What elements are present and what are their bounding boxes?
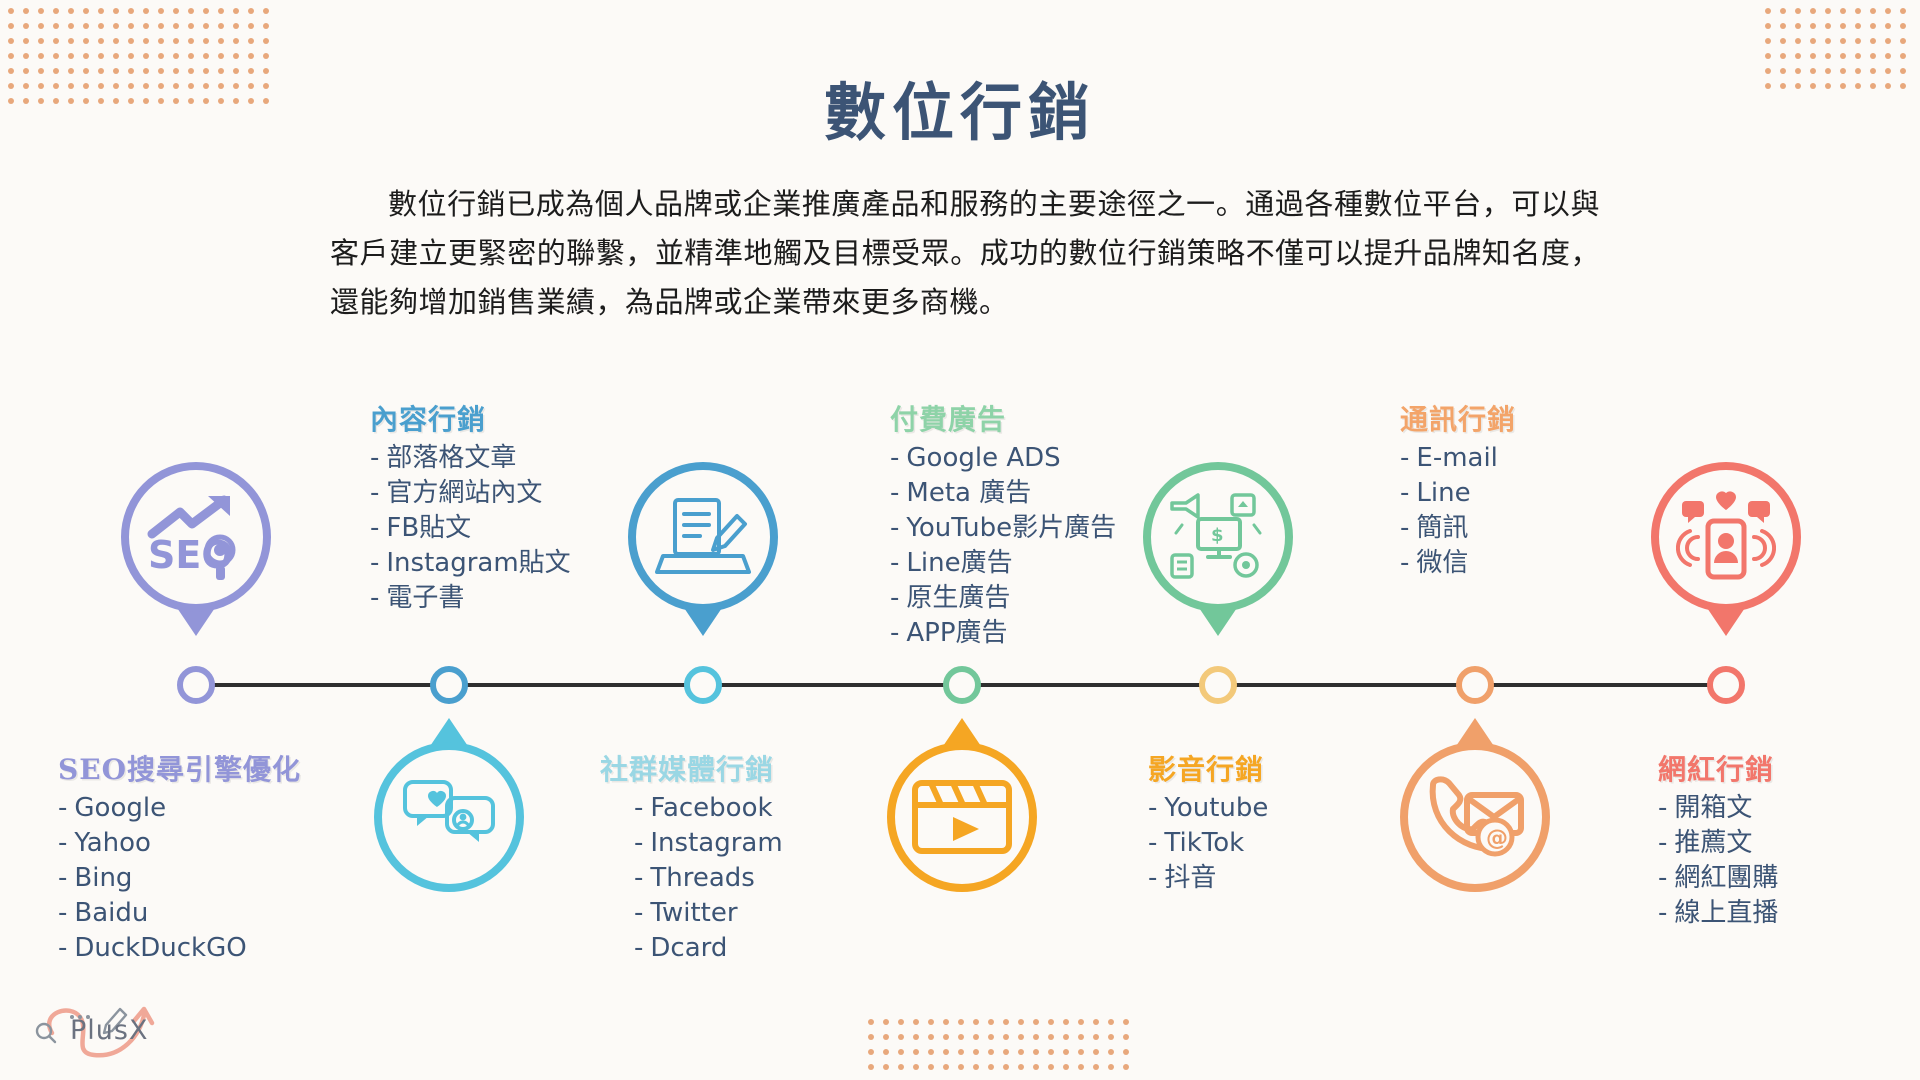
dot bbox=[263, 53, 269, 59]
dot bbox=[68, 38, 74, 44]
dot bbox=[1885, 38, 1891, 44]
dot bbox=[248, 38, 254, 44]
dot bbox=[173, 8, 179, 14]
dot bbox=[1810, 38, 1816, 44]
dot bbox=[1810, 23, 1816, 29]
dot bbox=[143, 38, 149, 44]
dot bbox=[1885, 53, 1891, 59]
dot bbox=[1078, 1049, 1084, 1055]
bullet-dash: - bbox=[1658, 863, 1667, 893]
dot bbox=[98, 38, 104, 44]
bullet-dash: - bbox=[1658, 898, 1667, 928]
dot bbox=[973, 1019, 979, 1025]
bullet-dash: - bbox=[634, 898, 643, 928]
dot bbox=[113, 53, 119, 59]
list-item: -APP廣告 bbox=[890, 616, 1116, 651]
list-item: -推薦文 bbox=[1658, 826, 1778, 861]
dot bbox=[1003, 1019, 1009, 1025]
list-item: -Line廣告 bbox=[890, 546, 1116, 581]
dot bbox=[988, 1034, 994, 1040]
dot bbox=[233, 53, 239, 59]
dot bbox=[1003, 1064, 1009, 1070]
dot bbox=[1033, 1019, 1039, 1025]
dot bbox=[868, 1019, 874, 1025]
bullet-dash: - bbox=[890, 443, 899, 473]
dot bbox=[1108, 1049, 1114, 1055]
dot bbox=[8, 38, 14, 44]
dot bbox=[898, 1049, 904, 1055]
dot bbox=[1780, 8, 1786, 14]
section-influencer-marketing[interactable]: 網紅行銷 -開箱文-推薦文-網紅團購-線上直播 bbox=[1658, 748, 1778, 931]
dot bbox=[248, 53, 254, 59]
dot bbox=[218, 38, 224, 44]
bullet-dash: - bbox=[58, 863, 67, 893]
dot bbox=[1048, 1019, 1054, 1025]
document-pen-laptop-icon bbox=[628, 462, 778, 612]
dot bbox=[263, 8, 269, 14]
dot bbox=[868, 1049, 874, 1055]
dot bbox=[1900, 23, 1906, 29]
dot bbox=[128, 8, 134, 14]
dot bbox=[8, 8, 14, 14]
plusx-logo: PlusX bbox=[22, 995, 192, 1065]
bullet-dash: - bbox=[1148, 863, 1157, 893]
dot bbox=[988, 1064, 994, 1070]
list-item: -DuckDuckGO bbox=[58, 931, 301, 966]
dot bbox=[173, 53, 179, 59]
node-seo[interactable] bbox=[177, 666, 215, 704]
dot bbox=[988, 1049, 994, 1055]
node-mail[interactable] bbox=[1456, 666, 1494, 704]
page-title: 數位行銷 bbox=[0, 62, 1920, 152]
dot bbox=[38, 8, 44, 14]
dot bbox=[53, 8, 59, 14]
dot bbox=[158, 53, 164, 59]
node-content[interactable] bbox=[430, 666, 468, 704]
list-item: -抖音 bbox=[1148, 861, 1268, 896]
dot bbox=[83, 53, 89, 59]
dot bbox=[1063, 1064, 1069, 1070]
dot bbox=[943, 1019, 949, 1025]
section-heading: 通訊行銷 bbox=[1400, 398, 1516, 438]
list-item: -Dcard bbox=[634, 931, 783, 966]
section-list: -Google-Yahoo-Bing-Baidu-DuckDuckGO bbox=[58, 791, 301, 966]
dot bbox=[188, 23, 194, 29]
dot bbox=[1810, 8, 1816, 14]
section-heading: 社群媒體行銷 bbox=[600, 748, 783, 788]
dot bbox=[1825, 23, 1831, 29]
dot bbox=[248, 8, 254, 14]
dot bbox=[1108, 1019, 1114, 1025]
bullet-dash: - bbox=[634, 793, 643, 823]
dot bbox=[1780, 23, 1786, 29]
dot bbox=[98, 8, 104, 14]
bullet-dash: - bbox=[370, 548, 379, 578]
dot bbox=[1018, 1049, 1024, 1055]
dot bbox=[1048, 1034, 1054, 1040]
section-social-media[interactable]: 社群媒體行銷 -Facebook-Instagram-Threads-Twitt… bbox=[600, 748, 783, 966]
bullet-dash: - bbox=[634, 933, 643, 963]
dot bbox=[188, 53, 194, 59]
dot bbox=[958, 1049, 964, 1055]
dot bbox=[1855, 53, 1861, 59]
dot bbox=[1063, 1049, 1069, 1055]
pin-paid_ads[interactable]: $ bbox=[1143, 462, 1293, 612]
dot bbox=[1795, 8, 1801, 14]
pin-social[interactable] bbox=[374, 742, 524, 892]
dot bbox=[113, 38, 119, 44]
dot bbox=[248, 23, 254, 29]
dot bbox=[68, 53, 74, 59]
pin-seo[interactable]: SEO bbox=[121, 462, 271, 612]
list-item: -部落格文章 bbox=[370, 441, 571, 476]
dot bbox=[928, 1034, 934, 1040]
dot bbox=[203, 38, 209, 44]
dot bbox=[1900, 53, 1906, 59]
dot bbox=[1123, 1064, 1129, 1070]
dot bbox=[988, 1019, 994, 1025]
dot bbox=[1810, 53, 1816, 59]
dot bbox=[1108, 1034, 1114, 1040]
list-item: -Google bbox=[58, 791, 301, 826]
bullet-dash: - bbox=[58, 898, 67, 928]
node-social[interactable] bbox=[684, 666, 722, 704]
dot bbox=[1063, 1034, 1069, 1040]
section-list: -Google ADS-Meta 廣告-YouTube影片廣告-Line廣告-原… bbox=[890, 441, 1116, 651]
dot bbox=[128, 53, 134, 59]
dot bbox=[1870, 53, 1876, 59]
dot bbox=[1033, 1034, 1039, 1040]
dot bbox=[188, 38, 194, 44]
dot bbox=[1765, 53, 1771, 59]
dot bbox=[1765, 38, 1771, 44]
dot bbox=[53, 38, 59, 44]
svg-text:$: $ bbox=[1211, 525, 1224, 546]
video-play-clapper-icon bbox=[887, 742, 1037, 892]
section-paid-ads[interactable]: 付費廣告 -Google ADS-Meta 廣告-YouTube影片廣告-Lin… bbox=[890, 398, 1116, 651]
dot bbox=[1870, 23, 1876, 29]
dot bbox=[1108, 1064, 1114, 1070]
dot bbox=[263, 23, 269, 29]
dot-grid-bottom-center bbox=[868, 1019, 1129, 1070]
section-list: -Facebook-Instagram-Threads-Twitter-Dcar… bbox=[600, 791, 783, 966]
bullet-dash: - bbox=[370, 583, 379, 613]
list-item: -Line bbox=[1400, 476, 1516, 511]
bullet-dash: - bbox=[1400, 478, 1409, 508]
dot bbox=[1003, 1049, 1009, 1055]
bullet-dash: - bbox=[890, 548, 899, 578]
dot bbox=[8, 53, 14, 59]
phone-envelope-at-icon: @ bbox=[1400, 742, 1550, 892]
list-item: -FB貼文 bbox=[370, 511, 571, 546]
dot bbox=[233, 23, 239, 29]
dot bbox=[203, 23, 209, 29]
dot bbox=[973, 1064, 979, 1070]
dot bbox=[958, 1064, 964, 1070]
dot bbox=[83, 8, 89, 14]
dot bbox=[38, 38, 44, 44]
dot bbox=[913, 1064, 919, 1070]
list-item: -Twitter bbox=[634, 896, 783, 931]
section-list: -Youtube-TikTok-抖音 bbox=[1148, 791, 1268, 896]
chat-bubbles-heart-icon bbox=[374, 742, 524, 892]
dot bbox=[233, 8, 239, 14]
dot bbox=[1855, 23, 1861, 29]
bullet-dash: - bbox=[1658, 828, 1667, 858]
dot bbox=[158, 8, 164, 14]
dot bbox=[1033, 1049, 1039, 1055]
dot bbox=[203, 53, 209, 59]
influencer-phone-live-icon bbox=[1651, 462, 1801, 612]
dot bbox=[1003, 1034, 1009, 1040]
dot bbox=[1033, 1064, 1039, 1070]
bullet-dash: - bbox=[1148, 793, 1157, 823]
dot bbox=[158, 38, 164, 44]
dot bbox=[958, 1034, 964, 1040]
pin-content[interactable] bbox=[628, 462, 778, 612]
dot bbox=[1795, 23, 1801, 29]
dot bbox=[883, 1034, 889, 1040]
dot bbox=[1765, 23, 1771, 29]
pin-comm[interactable]: @ bbox=[1400, 742, 1550, 892]
seo-chart-magnifier-icon: SEO bbox=[121, 462, 271, 612]
dot bbox=[1048, 1049, 1054, 1055]
list-item: -原生廣告 bbox=[890, 581, 1116, 616]
list-item: -網紅團購 bbox=[1658, 861, 1778, 896]
dot bbox=[1765, 8, 1771, 14]
section-heading: SEO搜尋引擎優化 bbox=[58, 748, 301, 788]
ads-megaphone-monitor-icon: $ bbox=[1143, 462, 1293, 612]
bullet-dash: - bbox=[1400, 443, 1409, 473]
list-item: -官方網站內文 bbox=[370, 476, 571, 511]
list-item: -TikTok bbox=[1148, 826, 1268, 861]
dot bbox=[1840, 53, 1846, 59]
list-item: -線上直播 bbox=[1658, 896, 1778, 931]
dot bbox=[8, 23, 14, 29]
list-item: -Bing bbox=[58, 861, 301, 896]
dot bbox=[943, 1064, 949, 1070]
dot bbox=[1885, 8, 1891, 14]
section-heading: 付費廣告 bbox=[890, 398, 1116, 438]
dot bbox=[83, 38, 89, 44]
dot bbox=[53, 53, 59, 59]
list-item: -微信 bbox=[1400, 546, 1516, 581]
dot bbox=[38, 23, 44, 29]
dot bbox=[868, 1034, 874, 1040]
dot bbox=[1870, 38, 1876, 44]
section-video-marketing[interactable]: 影音行銷 -Youtube-TikTok-抖音 bbox=[1148, 748, 1268, 896]
bullet-dash: - bbox=[890, 513, 899, 543]
dot bbox=[128, 23, 134, 29]
dot bbox=[83, 23, 89, 29]
list-item: -Youtube bbox=[1148, 791, 1268, 826]
bullet-dash: - bbox=[890, 478, 899, 508]
bullet-dash: - bbox=[890, 618, 899, 648]
bullet-dash: - bbox=[370, 443, 379, 473]
dot bbox=[1078, 1064, 1084, 1070]
dot bbox=[1018, 1034, 1024, 1040]
bullet-dash: - bbox=[1658, 793, 1667, 823]
node-video[interactable] bbox=[1199, 666, 1237, 704]
dot bbox=[898, 1019, 904, 1025]
dot bbox=[218, 23, 224, 29]
dot bbox=[173, 38, 179, 44]
dot bbox=[53, 23, 59, 29]
dot bbox=[1123, 1049, 1129, 1055]
bullet-dash: - bbox=[1400, 548, 1409, 578]
bullet-dash: - bbox=[634, 828, 643, 858]
list-item: -Baidu bbox=[58, 896, 301, 931]
dot bbox=[1825, 8, 1831, 14]
dot bbox=[1780, 38, 1786, 44]
dot bbox=[868, 1064, 874, 1070]
list-item: -Instagram bbox=[634, 826, 783, 861]
dot bbox=[143, 53, 149, 59]
dot bbox=[1840, 23, 1846, 29]
bullet-dash: - bbox=[370, 478, 379, 508]
dot bbox=[973, 1034, 979, 1040]
dot bbox=[98, 53, 104, 59]
dot bbox=[143, 23, 149, 29]
list-item: -Google ADS bbox=[890, 441, 1116, 476]
list-item: -YouTube影片廣告 bbox=[890, 511, 1116, 546]
list-item: -Facebook bbox=[634, 791, 783, 826]
pin-influencer[interactable] bbox=[1651, 462, 1801, 612]
dot bbox=[898, 1034, 904, 1040]
dot bbox=[158, 23, 164, 29]
dot bbox=[1795, 38, 1801, 44]
bullet-dash: - bbox=[58, 933, 67, 963]
section-list: -部落格文章-官方網站內文-FB貼文-Instagram貼文-電子書 bbox=[370, 441, 571, 616]
dot bbox=[1825, 38, 1831, 44]
dot bbox=[23, 38, 29, 44]
dot bbox=[1795, 53, 1801, 59]
dot bbox=[1870, 8, 1876, 14]
dot bbox=[928, 1049, 934, 1055]
list-item: -Instagram貼文 bbox=[370, 546, 571, 581]
section-heading: 內容行銷 bbox=[370, 398, 571, 438]
dot bbox=[943, 1034, 949, 1040]
dot bbox=[928, 1019, 934, 1025]
dot bbox=[883, 1049, 889, 1055]
dot bbox=[913, 1019, 919, 1025]
dot bbox=[973, 1049, 979, 1055]
bullet-dash: - bbox=[1400, 513, 1409, 543]
list-item: -電子書 bbox=[370, 581, 571, 616]
section-heading: 影音行銷 bbox=[1148, 748, 1268, 788]
bullet-dash: - bbox=[58, 828, 67, 858]
dot bbox=[1123, 1019, 1129, 1025]
dot bbox=[1825, 53, 1831, 59]
section-content-marketing[interactable]: 內容行銷 -部落格文章-官方網站內文-FB貼文-Instagram貼文-電子書 bbox=[370, 398, 571, 616]
dot bbox=[1018, 1019, 1024, 1025]
dot bbox=[113, 23, 119, 29]
dot bbox=[1780, 53, 1786, 59]
dot bbox=[203, 8, 209, 14]
list-item: -E-mail bbox=[1400, 441, 1516, 476]
dot bbox=[1840, 38, 1846, 44]
dot bbox=[928, 1064, 934, 1070]
dot bbox=[1093, 1034, 1099, 1040]
dot bbox=[1900, 8, 1906, 14]
list-item: -Meta 廣告 bbox=[890, 476, 1116, 511]
section-list: -E-mail-Line-簡訊-微信 bbox=[1400, 441, 1516, 581]
dot bbox=[68, 23, 74, 29]
dot bbox=[38, 53, 44, 59]
bullet-dash: - bbox=[634, 863, 643, 893]
dot bbox=[913, 1034, 919, 1040]
dot bbox=[1900, 38, 1906, 44]
dot bbox=[98, 23, 104, 29]
dot bbox=[1078, 1019, 1084, 1025]
dot bbox=[883, 1019, 889, 1025]
dot bbox=[128, 38, 134, 44]
dot bbox=[958, 1019, 964, 1025]
logo-text: PlusX bbox=[70, 1015, 148, 1046]
bullet-dash: - bbox=[1148, 828, 1157, 858]
dot bbox=[1855, 38, 1861, 44]
dot bbox=[1048, 1064, 1054, 1070]
dot bbox=[1093, 1019, 1099, 1025]
dot bbox=[1078, 1034, 1084, 1040]
dot bbox=[218, 53, 224, 59]
dot bbox=[113, 8, 119, 14]
bullet-dash: - bbox=[890, 583, 899, 613]
dot bbox=[173, 23, 179, 29]
section-heading: 網紅行銷 bbox=[1658, 748, 1778, 788]
bullet-dash: - bbox=[370, 513, 379, 543]
dot bbox=[1018, 1064, 1024, 1070]
section-communication-marketing[interactable]: 通訊行銷 -E-mail-Line-簡訊-微信 bbox=[1400, 398, 1516, 581]
list-item: -Yahoo bbox=[58, 826, 301, 861]
svg-text:@: @ bbox=[1486, 826, 1508, 851]
dot bbox=[263, 38, 269, 44]
dot bbox=[143, 8, 149, 14]
dot bbox=[188, 8, 194, 14]
dot bbox=[883, 1064, 889, 1070]
dot bbox=[898, 1064, 904, 1070]
dot bbox=[1840, 8, 1846, 14]
pin-video[interactable] bbox=[887, 742, 1037, 892]
dot bbox=[1123, 1034, 1129, 1040]
list-item: -Threads bbox=[634, 861, 783, 896]
dot bbox=[23, 53, 29, 59]
dot bbox=[23, 23, 29, 29]
bullet-dash: - bbox=[58, 793, 67, 823]
section-seo[interactable]: SEO搜尋引擎優化 -Google-Yahoo-Bing-Baidu-DuckD… bbox=[58, 748, 301, 966]
dot bbox=[943, 1049, 949, 1055]
node-influencer[interactable] bbox=[1707, 666, 1745, 704]
dot bbox=[23, 8, 29, 14]
dot bbox=[1855, 8, 1861, 14]
dot bbox=[1093, 1064, 1099, 1070]
dot bbox=[68, 8, 74, 14]
list-item: -簡訊 bbox=[1400, 511, 1516, 546]
dot bbox=[218, 8, 224, 14]
section-list: -開箱文-推薦文-網紅團購-線上直播 bbox=[1658, 791, 1778, 931]
dot bbox=[233, 38, 239, 44]
dot bbox=[1885, 23, 1891, 29]
node-paid-ads[interactable] bbox=[943, 666, 981, 704]
dot bbox=[913, 1049, 919, 1055]
dot bbox=[1063, 1019, 1069, 1025]
dot bbox=[1093, 1049, 1099, 1055]
list-item: -開箱文 bbox=[1658, 791, 1778, 826]
intro-paragraph: 數位行銷已成為個人品牌或企業推廣產品和服務的主要途徑之一。通過各種數位平台，可以… bbox=[330, 180, 1600, 327]
